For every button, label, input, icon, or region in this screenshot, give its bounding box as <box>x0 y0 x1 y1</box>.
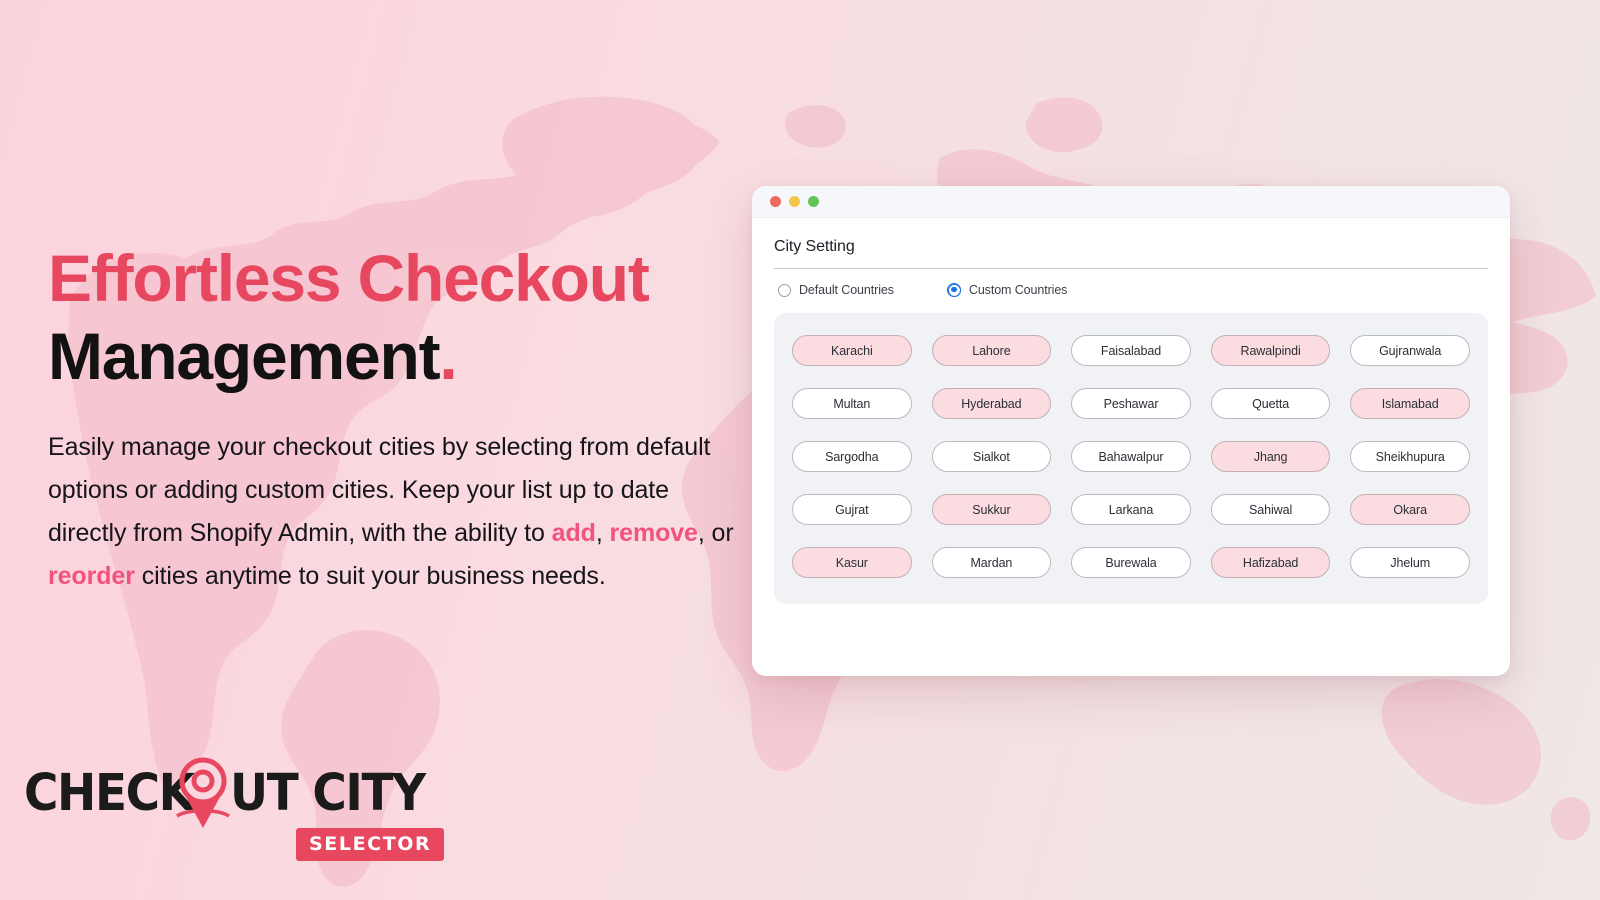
close-button[interactable] <box>770 196 781 207</box>
city-chip[interactable]: Jhang <box>1211 441 1331 472</box>
city-chip[interactable]: Rawalpindi <box>1211 335 1331 366</box>
highlight-remove: remove <box>610 519 698 547</box>
city-chip[interactable]: Sahiwal <box>1211 494 1331 525</box>
city-chip[interactable]: Hyderabad <box>932 388 1052 419</box>
city-chip[interactable]: Burewala <box>1071 547 1191 578</box>
highlight-add: add <box>552 519 596 547</box>
logo-wordmark-post: UT CITY <box>230 764 425 823</box>
city-list-panel: KarachiLahoreFaisalabadRawalpindiGujranw… <box>774 313 1488 604</box>
city-chip[interactable]: Mardan <box>932 547 1052 578</box>
city-chip[interactable]: Larkana <box>1071 494 1191 525</box>
highlight-reorder: reorder <box>48 562 135 590</box>
description-sep-2: , or <box>698 519 734 547</box>
description-sep-1: , <box>596 519 610 547</box>
promo-banner: Effortless Checkout Management. Easily m… <box>0 0 1600 900</box>
city-chip[interactable]: Karachi <box>792 335 912 366</box>
radio-option-custom-countries[interactable]: Custom Countries <box>948 283 1067 297</box>
headline-line-2: Management. <box>48 318 748 396</box>
map-pin-icon <box>174 754 232 830</box>
hero-description: Easily manage your checkout cities by se… <box>48 426 738 598</box>
city-chip[interactable]: Kasur <box>792 547 912 578</box>
radio-label-custom: Custom Countries <box>969 283 1067 297</box>
city-chip[interactable]: Gujrat <box>792 494 912 525</box>
radio-mark-default[interactable] <box>778 284 791 297</box>
city-chip[interactable]: Sargodha <box>792 441 912 472</box>
headline-dot: . <box>439 319 456 393</box>
page-title: Effortless Checkout Management. <box>48 240 748 396</box>
city-chip[interactable]: Sheikhupura <box>1350 441 1470 472</box>
description-part-2: cities anytime to suit your business nee… <box>135 562 606 590</box>
minimize-button[interactable] <box>789 196 800 207</box>
city-chip[interactable]: Bahawalpur <box>1071 441 1191 472</box>
headline-line-1: Effortless Checkout <box>48 240 748 318</box>
app-window: City Setting Default Countries Custom Co… <box>752 186 1510 676</box>
city-chip[interactable]: Hafizabad <box>1211 547 1331 578</box>
city-chip[interactable]: Okara <box>1350 494 1470 525</box>
headline-line-2-text: Management <box>48 319 439 393</box>
city-chip[interactable]: Lahore <box>932 335 1052 366</box>
city-chip[interactable]: Gujranwala <box>1350 335 1470 366</box>
city-chip-grid: KarachiLahoreFaisalabadRawalpindiGujranw… <box>792 335 1470 578</box>
maximize-button[interactable] <box>808 196 819 207</box>
city-chip[interactable]: Sialkot <box>932 441 1052 472</box>
logo-selector-badge: SELECTOR <box>296 828 444 861</box>
brand-logo: CHECKOUT CITY SELECTOR <box>24 768 424 878</box>
radio-mark-custom[interactable] <box>948 284 961 297</box>
logo-wordmark-pre: CHECK <box>24 764 192 823</box>
city-chip[interactable]: Peshawar <box>1071 388 1191 419</box>
hero-copy: Effortless Checkout Management. Easily m… <box>48 240 748 598</box>
city-chip[interactable]: Quetta <box>1211 388 1331 419</box>
country-source-radio-group: Default Countries Custom Countries <box>774 269 1488 297</box>
city-chip[interactable]: Multan <box>792 388 912 419</box>
city-chip[interactable]: Islamabad <box>1350 388 1470 419</box>
city-chip[interactable]: Faisalabad <box>1071 335 1191 366</box>
window-titlebar <box>752 186 1510 218</box>
city-chip[interactable]: Sukkur <box>932 494 1052 525</box>
radio-option-default-countries[interactable]: Default Countries <box>778 283 894 297</box>
panel-title: City Setting <box>774 238 1488 268</box>
city-chip[interactable]: Jhelum <box>1350 547 1470 578</box>
app-content: City Setting Default Countries Custom Co… <box>752 218 1510 604</box>
radio-label-default: Default Countries <box>799 283 894 297</box>
